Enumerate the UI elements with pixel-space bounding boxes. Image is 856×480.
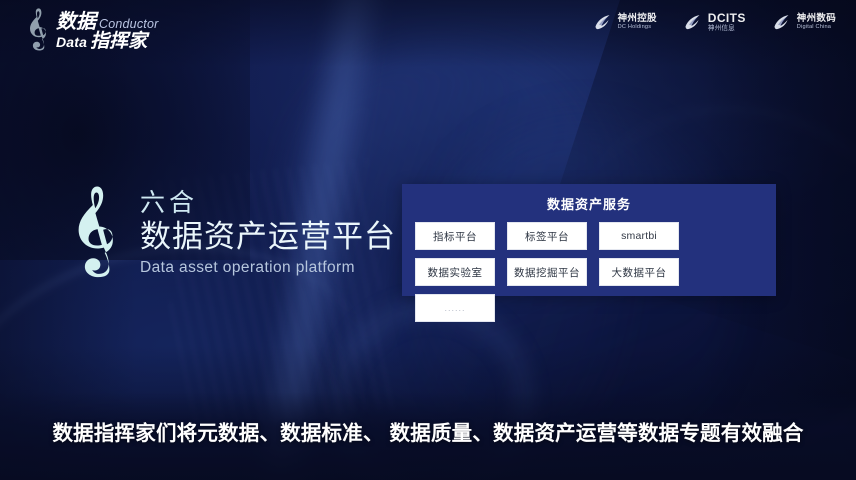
brand-en-lead: Conductor bbox=[99, 18, 158, 31]
swoosh-icon bbox=[772, 12, 792, 32]
service-tile[interactable]: 标签平台 bbox=[507, 222, 587, 250]
brand-logo: 数据 Conductor Data 指挥家 bbox=[26, 8, 158, 52]
hero-title-block: 六合 数据资产运营平台 Data asset operation platfor… bbox=[70, 182, 396, 284]
service-tile[interactable]: smartbi bbox=[599, 222, 679, 250]
service-tile[interactable]: 指标平台 bbox=[415, 222, 495, 250]
treble-clef-icon bbox=[26, 8, 52, 52]
service-tile[interactable]: 数据实验室 bbox=[415, 258, 495, 286]
partner-logo-text: 神州控股 DC Holdings bbox=[618, 14, 657, 31]
partner-logo-text: 神州数码 Digital China bbox=[797, 14, 836, 31]
slide-canvas: 数据 Conductor Data 指挥家 神州控股 DC Holdings bbox=[0, 0, 856, 480]
brand-text: 数据 Conductor Data 指挥家 bbox=[56, 10, 158, 51]
hero-title: 数据资产运营平台 bbox=[140, 221, 396, 252]
partner-logo-dcits: DCITS 神州信息 bbox=[683, 12, 746, 33]
treble-clef-icon bbox=[70, 182, 126, 284]
service-tile[interactable]: 大数据平台 bbox=[599, 258, 679, 286]
partner-name-en: DC Holdings bbox=[618, 25, 657, 31]
hero-text-stack: 六合 数据资产运营平台 Data asset operation platfor… bbox=[140, 191, 396, 276]
partner-name-en: 神州信息 bbox=[708, 26, 746, 33]
partner-name-cn: DCITS bbox=[708, 12, 746, 25]
partner-name-cn: 神州数码 bbox=[797, 14, 836, 24]
hero-subtitle: Data asset operation platform bbox=[140, 260, 396, 276]
swoosh-icon bbox=[593, 12, 613, 32]
partner-logo-text: DCITS 神州信息 bbox=[708, 12, 746, 33]
hero-eyebrow: 六合 bbox=[140, 191, 396, 216]
data-asset-service-panel: 数据资产服务 指标平台 标签平台 smartbi 数据实验室 数据挖掘平台 大数… bbox=[402, 184, 776, 296]
partner-name-cn: 神州控股 bbox=[618, 14, 657, 24]
partner-logo-digital-china: 神州数码 Digital China bbox=[772, 12, 836, 32]
partner-logo-group: 神州控股 DC Holdings DCITS 神州信息 神州数码 Digital… bbox=[593, 12, 836, 33]
slide-caption: 数据指挥家们将元数据、数据标准、 数据质量、数据资产运营等数据专题有效融合 bbox=[0, 416, 856, 446]
service-tile[interactable]: 数据挖掘平台 bbox=[507, 258, 587, 286]
panel-title: 数据资产服务 bbox=[402, 184, 776, 213]
brand-cn-tail: 指挥家 bbox=[90, 32, 147, 51]
partner-name-en: Digital China bbox=[797, 25, 836, 31]
service-tile-more[interactable]: ...... bbox=[415, 294, 495, 322]
brand-cn-lead: 数据 bbox=[56, 12, 96, 32]
brand-en-tail: Data bbox=[56, 35, 87, 49]
brand-line-1: 数据 Conductor bbox=[56, 12, 158, 32]
partner-logo-dc-holdings: 神州控股 DC Holdings bbox=[593, 12, 657, 32]
service-tile-grid: 指标平台 标签平台 smartbi 数据实验室 数据挖掘平台 大数据平台 ...… bbox=[415, 222, 767, 322]
brand-line-2: Data 指挥家 bbox=[56, 32, 158, 51]
swoosh-icon bbox=[683, 12, 703, 32]
